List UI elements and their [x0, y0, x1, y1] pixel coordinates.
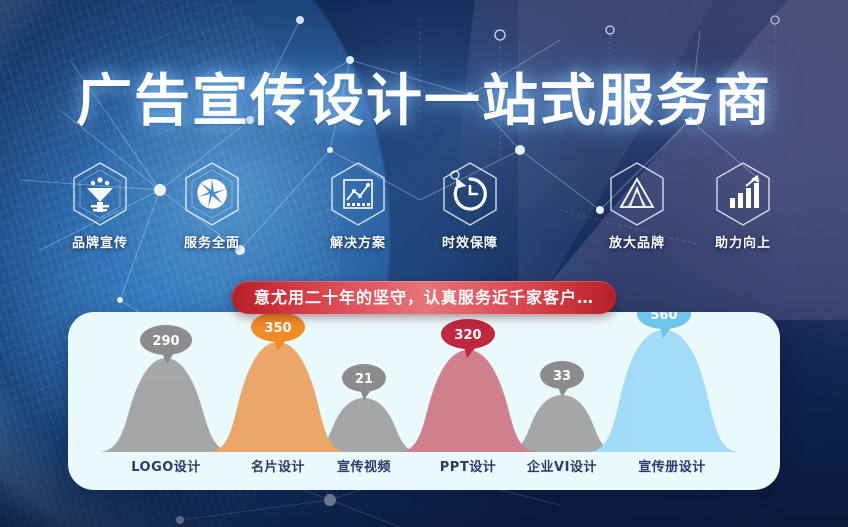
feature-item-full-service[interactable]: 服务全面	[169, 160, 255, 251]
svg-text:290: 290	[152, 334, 179, 349]
feature-item-timeliness[interactable]: 时效保障	[427, 160, 513, 251]
feature-label: 解决方案	[315, 232, 401, 251]
feature-label: 时效保障	[427, 232, 513, 251]
feature-item-brand-promotion[interactable]: 品牌宣传	[57, 160, 143, 251]
feature-item-solution[interactable]: 解决方案	[315, 160, 401, 251]
feature-label: 服务全面	[169, 232, 255, 251]
feature-label: 品牌宣传	[57, 232, 143, 251]
x-label-2: 宣传视频	[308, 456, 420, 475]
clock-rewind-icon	[439, 160, 501, 228]
data-label-560: 560	[637, 312, 691, 338]
data-label-320: 320	[441, 319, 495, 358]
svg-text:560: 560	[650, 312, 677, 323]
bell-ppt-design	[398, 350, 538, 452]
x-label-4: 企业VI设计	[498, 456, 626, 475]
feature-label: 助力向上	[700, 232, 786, 251]
camera-aperture-icon	[181, 160, 243, 228]
svg-text:320: 320	[454, 328, 481, 343]
chart-panel: 290 350 21 320 33	[68, 312, 780, 490]
bell-vi-design	[506, 395, 618, 452]
chart-category-labels: LOGO设计 名片设计 宣传视频 PPT设计 企业VI设计 宣传册设计	[68, 456, 780, 476]
data-label-290: 290	[140, 325, 192, 364]
poster-canvas: 广告宣传设计一站式服务商 品牌宣传	[0, 0, 848, 527]
x-label-5: 宣传册设计	[608, 456, 736, 475]
svg-text:350: 350	[264, 321, 291, 336]
x-label-0: LOGO设计	[110, 456, 222, 475]
bell-namecard-design	[208, 342, 348, 452]
data-label-350: 350	[251, 312, 305, 351]
data-label-21: 21	[342, 364, 386, 400]
feature-item-upward-boost[interactable]: 助力向上	[700, 160, 786, 251]
promo-banner: 意尤用二十年的坚守，认真服务近千家客户…	[232, 281, 616, 314]
feature-label: 放大品牌	[594, 232, 680, 251]
bell-logo-design	[98, 358, 234, 452]
svg-text:21: 21	[355, 372, 373, 387]
megaphone-broadcast-icon	[69, 160, 131, 228]
page-title: 广告宣传设计一站式服务商	[0, 56, 848, 137]
svg-text:33: 33	[553, 369, 571, 384]
bell-brochure-design	[588, 330, 740, 452]
chart-analysis-icon	[327, 160, 389, 228]
feature-icon-row: 品牌宣传 服务全面	[0, 160, 848, 250]
growth-bars-icon	[712, 160, 774, 228]
data-label-33: 33	[540, 361, 584, 397]
triangle-pyramid-icon	[606, 160, 668, 228]
feature-item-amplify-brand[interactable]: 放大品牌	[594, 160, 680, 251]
